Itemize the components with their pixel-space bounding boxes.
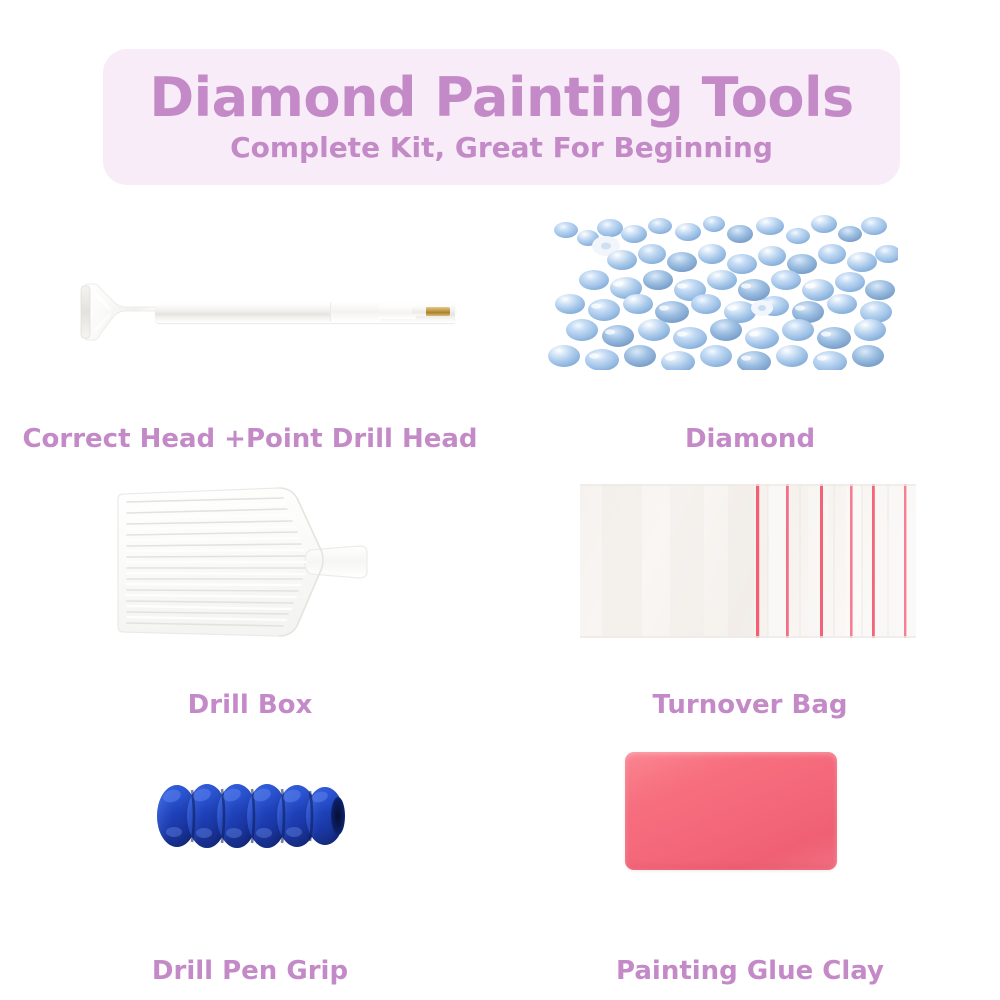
product-cell-drill-pen: Correct Head +Point Drill Head: [0, 200, 500, 466]
page-title: Diamond Painting Tools: [149, 70, 853, 127]
drill-box-icon: [115, 476, 405, 656]
product-label-diamond: Diamond: [500, 424, 1000, 454]
header-banner: Diamond Painting Tools Complete Kit, Gre…: [103, 49, 900, 185]
product-label-glue-clay: Painting Glue Clay: [500, 956, 1000, 986]
pen-shaft-band: [330, 302, 381, 322]
pen-neck: [378, 305, 416, 319]
product-cell-drill-box: Drill Box: [0, 466, 500, 732]
product-cell-turnover-bag: Turnover Bag: [500, 466, 1000, 732]
product-cell-pen-grip: Drill Pen Grip: [0, 732, 500, 998]
product-label-drill-box: Drill Box: [0, 690, 500, 720]
product-grid: Correct Head +Point Drill Head: [0, 200, 1000, 1000]
product-image-glue-clay: [500, 732, 1000, 942]
product-cell-diamond: Diamond: [500, 200, 1000, 466]
pen-grip-icon: [148, 774, 358, 858]
product-label-drill-pen: Correct Head +Point Drill Head: [0, 424, 500, 454]
diamond-drills-icon: [548, 210, 898, 370]
product-label-pen-grip: Drill Pen Grip: [0, 956, 500, 986]
pen-correct-head-icon: [68, 280, 166, 344]
glue-clay-icon: [625, 752, 837, 870]
pen-gold-tip: [426, 307, 450, 316]
product-image-diamond: [500, 200, 1000, 410]
product-image-drill-box: [0, 466, 500, 676]
glue-clay-block: [625, 752, 837, 870]
product-cell-glue-clay: Painting Glue Clay: [500, 732, 1000, 998]
product-label-turnover-bag: Turnover Bag: [500, 690, 1000, 720]
drill-pen-icon: [60, 272, 480, 352]
product-image-turnover-bag: [500, 466, 1000, 676]
page-subtitle: Complete Kit, Great For Beginning: [230, 133, 773, 164]
product-image-pen-grip: [0, 732, 500, 942]
product-image-drill-pen: [0, 200, 500, 410]
turnover-bag-icon: [578, 478, 918, 643]
